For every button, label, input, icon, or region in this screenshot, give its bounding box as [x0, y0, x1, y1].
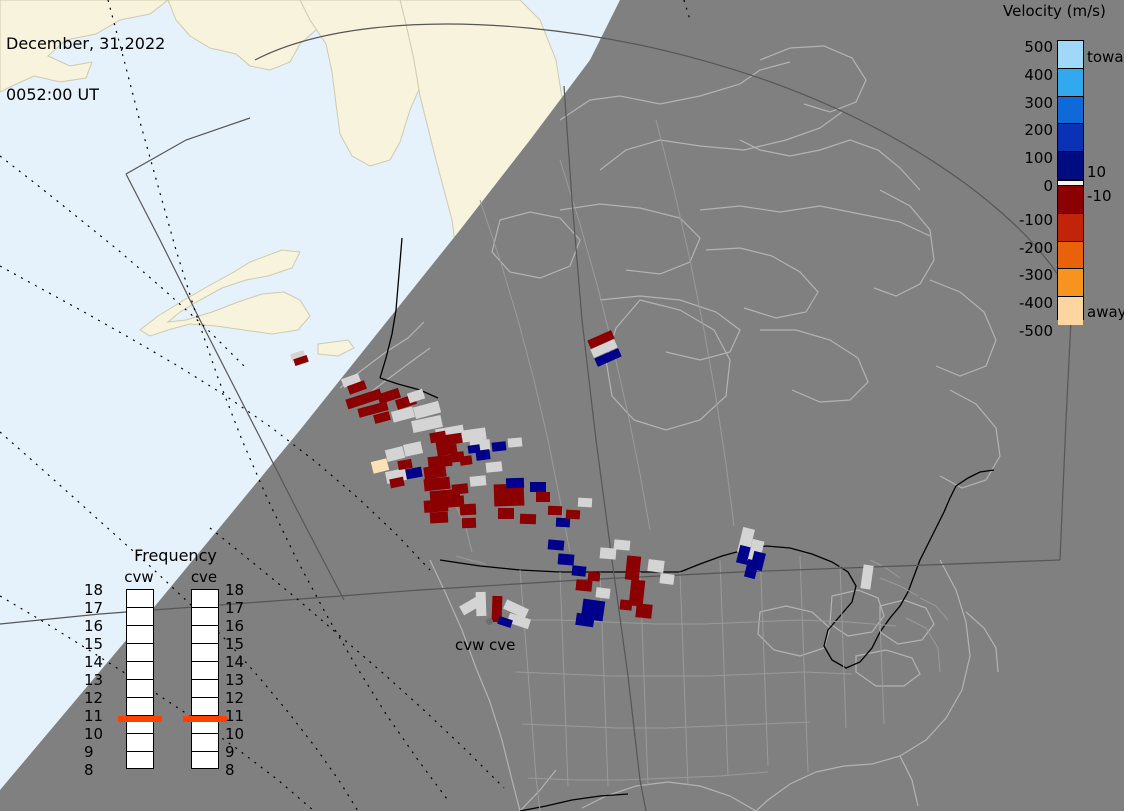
colorbar-positive-threshold-label: 10 — [1087, 165, 1106, 180]
radar-cell — [614, 539, 631, 550]
radar-cell — [492, 441, 507, 451]
radar-cell — [430, 512, 449, 524]
radar-cell — [397, 459, 412, 470]
radar-cell — [548, 539, 565, 550]
radar-cell — [536, 492, 550, 502]
colorbar-tick-label: 100 — [1024, 151, 1053, 166]
frequency-scale-tick-row — [192, 752, 218, 770]
colorbar-tick-label: 400 — [1024, 68, 1053, 83]
velocity-colorbar: Velocity (m/s) 5004003002001000-100-200-… — [1003, 2, 1124, 332]
radar-cell — [558, 553, 575, 565]
colorbar-segment — [1058, 297, 1083, 325]
colorbar-negative-threshold-label: -10 — [1087, 189, 1112, 204]
frequency-tick-label: 12 — [225, 691, 244, 706]
radar-site-label-cve: cve — [489, 636, 515, 654]
radar-cell — [391, 406, 415, 422]
colorbar-tick-label: 0 — [1043, 179, 1053, 194]
superdarn-map-view: December, 31,2022 0052:00 UT Velocity (m… — [0, 0, 1124, 811]
frequency-scale-tick-row — [192, 662, 218, 680]
frequency-tick-label: 11 — [84, 709, 103, 724]
colorbar-tick-label: -300 — [1019, 268, 1053, 283]
frequency-tick-label: 8 — [84, 763, 94, 778]
colorbar-segment — [1058, 242, 1083, 270]
colorbar-tick-label: 300 — [1024, 96, 1053, 111]
colorbar-segment — [1058, 124, 1083, 152]
radar-cell — [566, 510, 580, 520]
frequency-tick-label: 10 — [225, 727, 244, 742]
colorbar-tick-label: -400 — [1019, 296, 1053, 311]
timestamp-block: December, 31,2022 0052:00 UT — [6, 1, 165, 137]
radar-cell — [506, 478, 524, 489]
colorbar-tick-label: -500 — [1019, 324, 1053, 339]
frequency-tick-label: 18 — [84, 583, 103, 598]
frequency-tick-label: 13 — [225, 673, 244, 688]
frequency-scale-tick-row — [127, 698, 153, 716]
frequency-panel: Frequency cvw18171615141312111098cve1817… — [88, 546, 263, 786]
colorbar-toward-label: toward — [1087, 50, 1124, 65]
radar-cell — [405, 467, 422, 480]
timestamp-time: 0052:00 UT — [6, 86, 165, 103]
frequency-scale-tick-row — [127, 644, 153, 662]
frequency-tick-label: 11 — [225, 709, 244, 724]
radar-cell — [468, 444, 481, 454]
radar-cell — [625, 555, 641, 580]
radar-cell — [462, 518, 476, 528]
radar-cell — [578, 498, 592, 508]
radar-cell — [371, 458, 389, 474]
frequency-scale-tick-row — [192, 644, 218, 662]
radar-cell — [424, 499, 449, 513]
colorbar-segment — [1058, 269, 1083, 297]
radar-cell — [459, 455, 472, 466]
radar-site-dot — [486, 618, 493, 625]
radar-cell — [460, 504, 477, 516]
radar-cell — [575, 579, 592, 592]
frequency-tick-label: 16 — [225, 619, 244, 634]
colorbar-segment — [1058, 152, 1083, 180]
timestamp-date: December, 31,2022 — [6, 35, 165, 52]
colorbar-tick-label: 200 — [1024, 123, 1053, 138]
frequency-scale-tick-row — [127, 626, 153, 644]
radar-cell — [635, 603, 652, 619]
frequency-scale-tick-row — [127, 680, 153, 698]
frequency-tick-label: 9 — [225, 745, 235, 760]
frequency-radar-name: cve — [181, 568, 227, 586]
frequency-tick-label: 15 — [225, 637, 244, 652]
colorbar-tick-label: -200 — [1019, 241, 1053, 256]
frequency-scale-tick-row — [192, 590, 218, 608]
radar-cell — [588, 571, 601, 581]
frequency-tick-label: 17 — [225, 601, 244, 616]
frequency-scale-tick-row — [192, 734, 218, 752]
frequency-scale-bar — [191, 589, 219, 769]
frequency-tick-label: 16 — [84, 619, 103, 634]
frequency-marker-cve — [183, 716, 227, 722]
radar-cell — [620, 599, 633, 610]
frequency-scale-tick-row — [127, 608, 153, 626]
radar-cell — [659, 573, 674, 585]
frequency-panel-title: Frequency — [88, 546, 263, 565]
frequency-scale-tick-row — [127, 734, 153, 752]
radar-cell — [556, 518, 570, 528]
radar-cell — [520, 514, 536, 525]
frequency-scale-tick-row — [192, 680, 218, 698]
radar-cell — [470, 475, 487, 487]
frequency-scale-tick-row — [192, 626, 218, 644]
colorbar-segment — [1058, 69, 1083, 97]
frequency-scale-bar — [126, 589, 154, 769]
radar-cell — [860, 564, 873, 589]
radar-cell — [385, 446, 405, 462]
radar-cell — [486, 461, 503, 473]
colorbar-segment — [1058, 97, 1083, 125]
radar-cell — [423, 465, 446, 480]
frequency-tick-label: 17 — [84, 601, 103, 616]
radar-cell — [530, 482, 546, 492]
frequency-scale-tick-row — [127, 662, 153, 680]
colorbar-segment — [1058, 214, 1083, 242]
frequency-marker-cvw — [118, 716, 162, 722]
frequency-tick-label: 13 — [84, 673, 103, 688]
radar-cell — [595, 587, 610, 599]
colorbar-segment — [1058, 186, 1083, 214]
radar-cell — [403, 441, 423, 456]
frequency-scale-tick-row — [127, 590, 153, 608]
frequency-tick-label: 18 — [225, 583, 244, 598]
radar-cell — [452, 483, 469, 495]
frequency-tick-label: 9 — [84, 745, 94, 760]
radar-cell — [575, 613, 594, 627]
frequency-tick-label: 14 — [84, 655, 103, 670]
colorbar-tick-label: 500 — [1024, 40, 1053, 55]
frequency-scale-tick-row — [192, 698, 218, 716]
colorbar-title: Velocity (m/s) — [1003, 2, 1124, 20]
frequency-scale-tick-row — [127, 752, 153, 770]
colorbar-away-label: away — [1087, 305, 1124, 320]
radar-cell — [548, 506, 562, 515]
frequency-radar-name: cvw — [116, 568, 162, 586]
frequency-scale-tick-row — [192, 608, 218, 626]
radar-cell — [407, 389, 425, 403]
frequency-tick-label: 12 — [84, 691, 103, 706]
frequency-tick-label: 15 — [84, 637, 103, 652]
frequency-tick-label: 14 — [225, 655, 244, 670]
colorbar-segment — [1058, 41, 1083, 69]
radar-cell — [572, 565, 587, 576]
radar-cell — [498, 508, 514, 519]
colorbar-gradient-strip — [1057, 40, 1084, 320]
radar-site-label-cvw: cvw — [455, 636, 484, 654]
frequency-tick-label: 8 — [225, 763, 235, 778]
radar-cell — [508, 437, 523, 447]
colorbar-tick-label: -100 — [1019, 213, 1053, 228]
radar-cell — [647, 559, 664, 573]
frequency-tick-label: 10 — [84, 727, 103, 742]
